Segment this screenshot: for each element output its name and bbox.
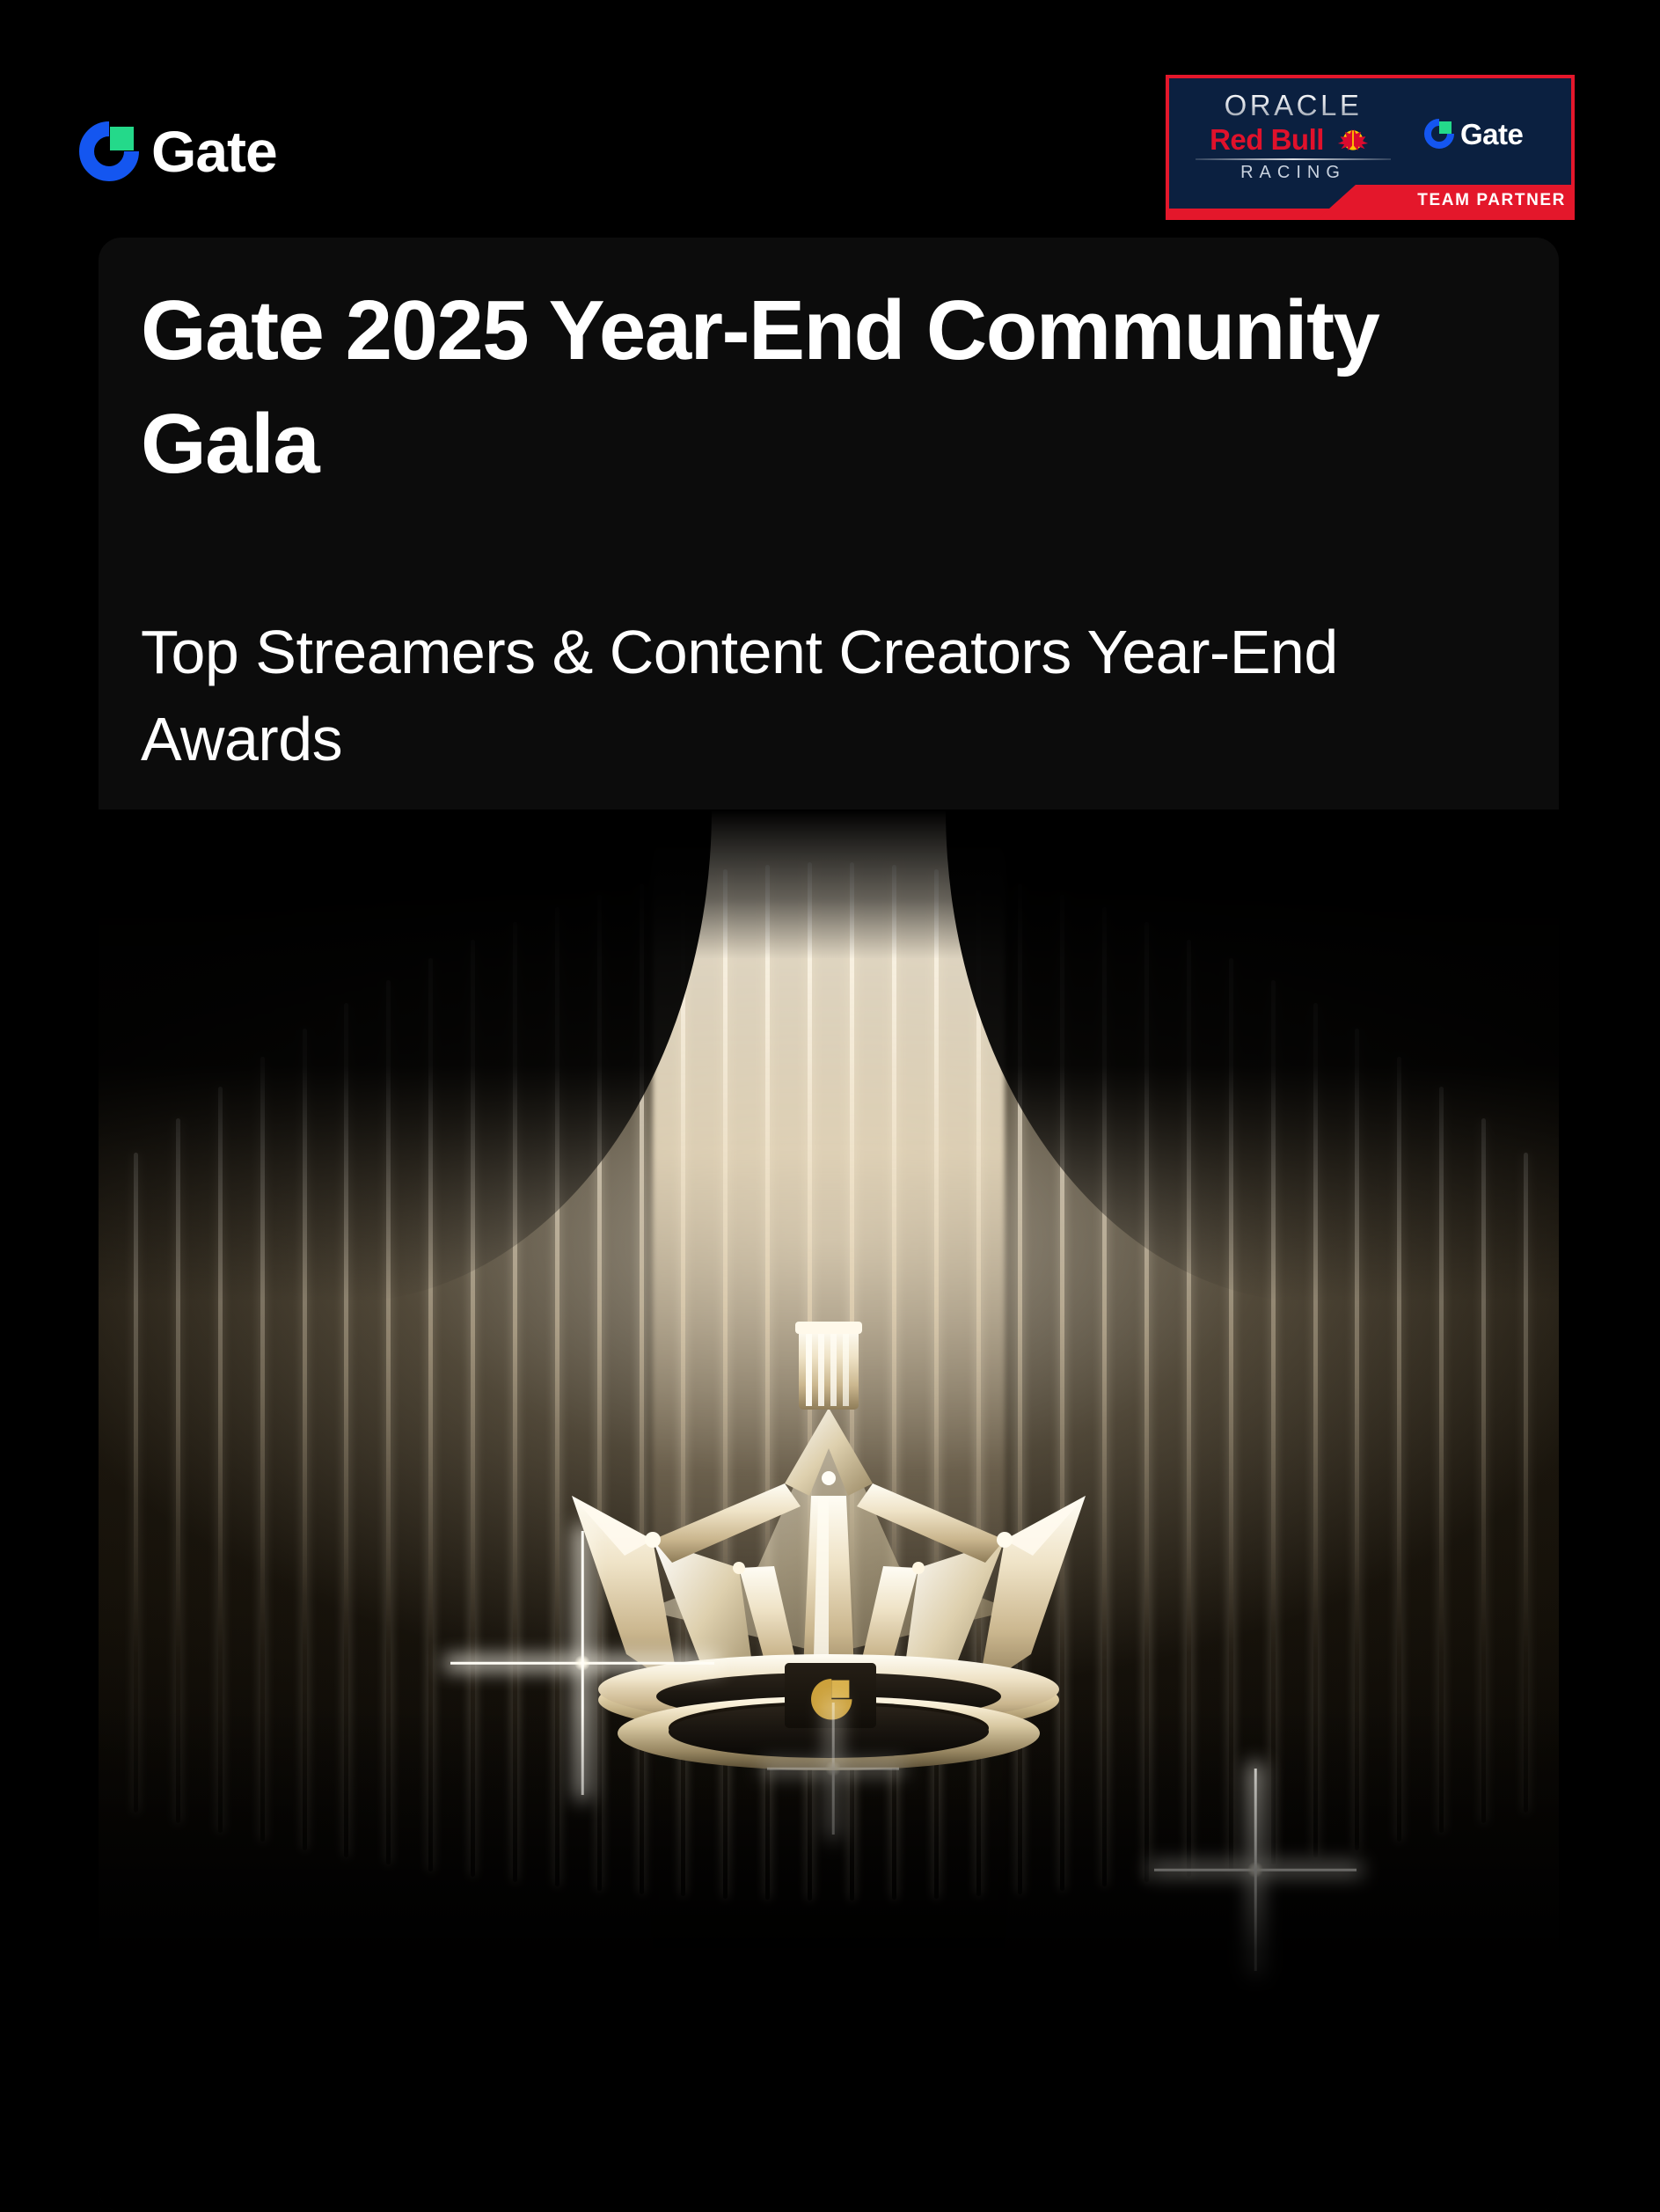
event-card: Gate 2025 Year-End Community Gala Top St… [99,238,1559,2212]
gate-brand-logo[interactable]: Gate [79,121,277,181]
hero-bottom-vignette [99,1707,1559,2076]
gate-wordmark: Gate [151,122,277,180]
red-bull-bulls-icon [1329,126,1377,152]
badge-divider [1196,158,1391,160]
hero-image [99,809,1559,2076]
page-subtitle: Top Streamers & Content Creators Year-En… [99,609,1471,784]
red-bull-wordmark: Red Bull [1210,125,1324,154]
badge-gate-logo: Gate [1424,119,1523,149]
gate-logo-icon [79,121,139,181]
gate-logo-icon-small [1424,119,1454,149]
page-title: Gate 2025 Year-End Community Gala [99,275,1471,501]
page-header: Gate ORACLE Red Bull RACING [0,0,1660,238]
card-footer-space [99,2076,1559,2212]
team-partner-label: TEAM PARTNER [1417,191,1566,210]
badge-gate-wordmark: Gate [1460,120,1523,149]
team-partner-banner: TEAM PARTNER [1320,185,1575,216]
promo-page: Gate ORACLE Red Bull RACING [0,0,1660,2212]
oracle-wordmark: ORACLE [1192,91,1394,121]
oracle-red-bull-racing-partner-badge: ORACLE Red Bull RACING Gate [1166,75,1575,220]
racing-wordmark: RACING [1192,164,1394,181]
red-bull-racing-lockup: ORACLE Red Bull RACING [1192,91,1394,181]
